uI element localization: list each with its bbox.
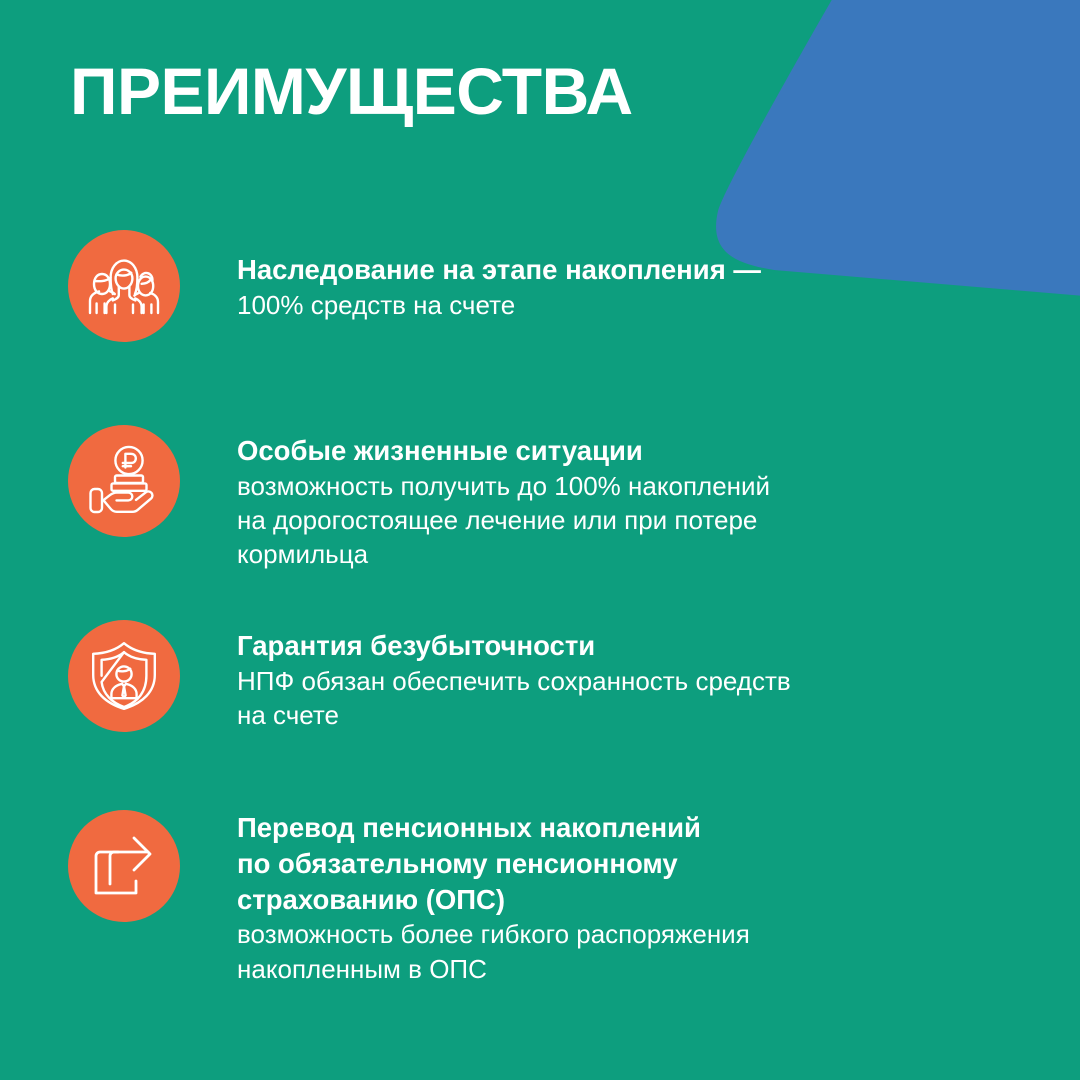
infographic-slide: ПРЕИМУЩЕСТВА (0, 0, 1080, 1080)
benefit-item-ops-transfer: Перевод пенсионных накоплений по обязате… (68, 810, 897, 986)
export-arrow-icon (68, 810, 180, 922)
benefit-description: возможность получить до 100% накоплений … (237, 469, 897, 572)
benefit-title: Гарантия безубыточности (237, 628, 897, 664)
benefit-description: НПФ обязан обеспечить сохранность средст… (237, 664, 897, 733)
page-title: ПРЕИМУЩЕСТВА (70, 58, 633, 124)
benefit-item-special-life-situations: Особые жизненные ситуации возможность по… (68, 425, 897, 572)
benefit-item-inheritance: Наследование на этапе накопления — 100% … (68, 230, 897, 342)
benefit-title: Наследование на этапе накопления — (237, 252, 897, 288)
hand-with-ruble-coins-icon (68, 425, 180, 537)
benefit-title: Перевод пенсионных накоплений по обязате… (237, 810, 897, 917)
benefit-item-break-even-guarantee: Гарантия безубыточности НПФ обязан обесп… (68, 620, 897, 732)
benefit-description: возможность более гибкого распоряжения н… (237, 917, 897, 986)
benefit-text-block: Особые жизненные ситуации возможность по… (237, 425, 897, 572)
benefit-description: 100% средств на счете (237, 288, 897, 322)
benefit-text-block: Перевод пенсионных накоплений по обязате… (237, 810, 897, 986)
benefit-text-block: Гарантия безубыточности НПФ обязан обесп… (237, 620, 897, 732)
family-people-icon (68, 230, 180, 342)
benefit-title: Особые жизненные ситуации (237, 433, 897, 469)
shield-with-person-icon (68, 620, 180, 732)
benefit-text-block: Наследование на этапе накопления — 100% … (237, 230, 897, 322)
